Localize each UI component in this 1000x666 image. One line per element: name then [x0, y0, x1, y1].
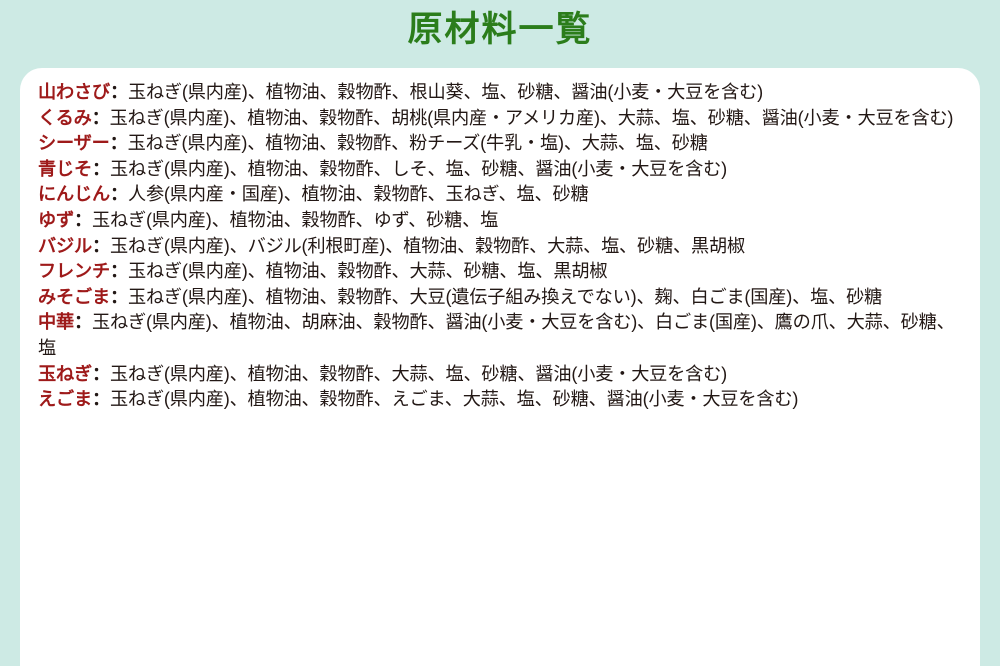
ingredient-row: くるみ：玉ねぎ(県内産)、植物油、穀物酢、胡桃(県内産・アメリカ産)、大蒜、塩、…: [38, 106, 964, 132]
ingredient-separator: ：: [92, 364, 110, 384]
ingredient-label: フレンチ: [38, 261, 110, 281]
ingredient-label: 山わさび: [38, 82, 110, 102]
ingredient-separator: ：: [110, 184, 128, 204]
ingredient-label: みそごま: [38, 287, 110, 307]
ingredient-separator: ：: [110, 287, 128, 307]
ingredient-separator: ：: [74, 312, 92, 332]
ingredient-text: 玉ねぎ(県内産)、植物油、穀物酢、粉チーズ(牛乳・塩)、大蒜、塩、砂糖: [128, 133, 708, 153]
ingredient-label: ゆず: [38, 210, 74, 230]
ingredient-row: 青じそ：玉ねぎ(県内産)、植物油、穀物酢、しそ、塩、砂糖、醤油(小麦・大豆を含む…: [38, 157, 964, 183]
ingredient-text: 人参(県内産・国産)、植物油、穀物酢、玉ねぎ、塩、砂糖: [128, 184, 589, 204]
ingredient-row: にんじん：人参(県内産・国産)、植物油、穀物酢、玉ねぎ、塩、砂糖: [38, 182, 964, 208]
ingredients-list: 山わさび：玉ねぎ(県内産)、植物油、穀物酢、根山葵、塩、砂糖、醤油(小麦・大豆を…: [38, 80, 964, 413]
ingredient-text: 玉ねぎ(県内産)、植物油、穀物酢、胡桃(県内産・アメリカ産)、大蒜、塩、砂糖、醤…: [110, 108, 954, 128]
ingredient-row: 玉ねぎ：玉ねぎ(県内産)、植物油、穀物酢、大蒜、塩、砂糖、醤油(小麦・大豆を含む…: [38, 362, 964, 388]
ingredient-label: くるみ: [38, 108, 92, 128]
ingredient-row: えごま：玉ねぎ(県内産)、植物油、穀物酢、えごま、大蒜、塩、砂糖、醤油(小麦・大…: [38, 387, 964, 413]
ingredient-label: 青じそ: [38, 159, 92, 179]
ingredient-separator: ：: [92, 389, 110, 409]
ingredient-separator: ：: [110, 261, 128, 281]
ingredient-row: みそごま：玉ねぎ(県内産)、植物油、穀物酢、大豆(遺伝子組み換えでない)、麹、白…: [38, 285, 964, 311]
ingredient-separator: ：: [92, 159, 110, 179]
ingredient-row: バジル：玉ねぎ(県内産)、バジル(利根町産)、植物油、穀物酢、大蒜、塩、砂糖、黒…: [38, 234, 964, 260]
ingredient-separator: ：: [92, 108, 110, 128]
page-root: 山わさび：玉ねぎ(県内産)、植物油、穀物酢、根山葵、塩、砂糖、醤油(小麦・大豆を…: [0, 0, 1000, 666]
ingredient-separator: ：: [74, 210, 92, 230]
ingredient-text: 玉ねぎ(県内産)、植物油、穀物酢、大豆(遺伝子組み換えでない)、麹、白ごま(国産…: [128, 287, 882, 307]
ingredient-label: にんじん: [38, 184, 110, 204]
ingredient-label: えごま: [38, 389, 92, 409]
ingredient-label: 玉ねぎ: [38, 364, 92, 384]
ingredient-row: フレンチ：玉ねぎ(県内産)、植物油、穀物酢、大蒜、砂糖、塩、黒胡椒: [38, 259, 964, 285]
ingredient-text: 玉ねぎ(県内産)、植物油、穀物酢、ゆず、砂糖、塩: [92, 210, 498, 230]
ingredient-text: 玉ねぎ(県内産)、バジル(利根町産)、植物油、穀物酢、大蒜、塩、砂糖、黒胡椒: [110, 236, 745, 256]
ingredient-row: 中華：玉ねぎ(県内産)、植物油、胡麻油、穀物酢、醤油(小麦・大豆を含む)、白ごま…: [38, 310, 964, 361]
ingredient-label: シーザー: [38, 133, 110, 153]
ingredient-row: シーザー：玉ねぎ(県内産)、植物油、穀物酢、粉チーズ(牛乳・塩)、大蒜、塩、砂糖: [38, 131, 964, 157]
ingredient-separator: ：: [110, 133, 128, 153]
ingredient-text: 玉ねぎ(県内産)、植物油、穀物酢、えごま、大蒜、塩、砂糖、醤油(小麦・大豆を含む…: [110, 389, 798, 409]
page-title: 原材料一覧: [0, 8, 1000, 52]
ingredient-label: 中華: [38, 312, 74, 332]
ingredient-text: 玉ねぎ(県内産)、植物油、穀物酢、大蒜、砂糖、塩、黒胡椒: [128, 261, 607, 281]
ingredient-row: ゆず：玉ねぎ(県内産)、植物油、穀物酢、ゆず、砂糖、塩: [38, 208, 964, 234]
ingredient-text: 玉ねぎ(県内産)、植物油、胡麻油、穀物酢、醤油(小麦・大豆を含む)、白ごま(国産…: [38, 312, 955, 358]
ingredient-text: 玉ねぎ(県内産)、植物油、穀物酢、大蒜、塩、砂糖、醤油(小麦・大豆を含む): [110, 364, 727, 384]
ingredient-text: 玉ねぎ(県内産)、植物油、穀物酢、しそ、塩、砂糖、醤油(小麦・大豆を含む): [110, 159, 727, 179]
ingredient-text: 玉ねぎ(県内産)、植物油、穀物酢、根山葵、塩、砂糖、醤油(小麦・大豆を含む): [128, 82, 763, 102]
ingredient-row: 山わさび：玉ねぎ(県内産)、植物油、穀物酢、根山葵、塩、砂糖、醤油(小麦・大豆を…: [38, 80, 964, 106]
ingredients-card: 山わさび：玉ねぎ(県内産)、植物油、穀物酢、根山葵、塩、砂糖、醤油(小麦・大豆を…: [20, 68, 980, 498]
ingredient-label: バジル: [38, 236, 92, 256]
ingredient-separator: ：: [92, 236, 110, 256]
ingredient-separator: ：: [110, 82, 128, 102]
